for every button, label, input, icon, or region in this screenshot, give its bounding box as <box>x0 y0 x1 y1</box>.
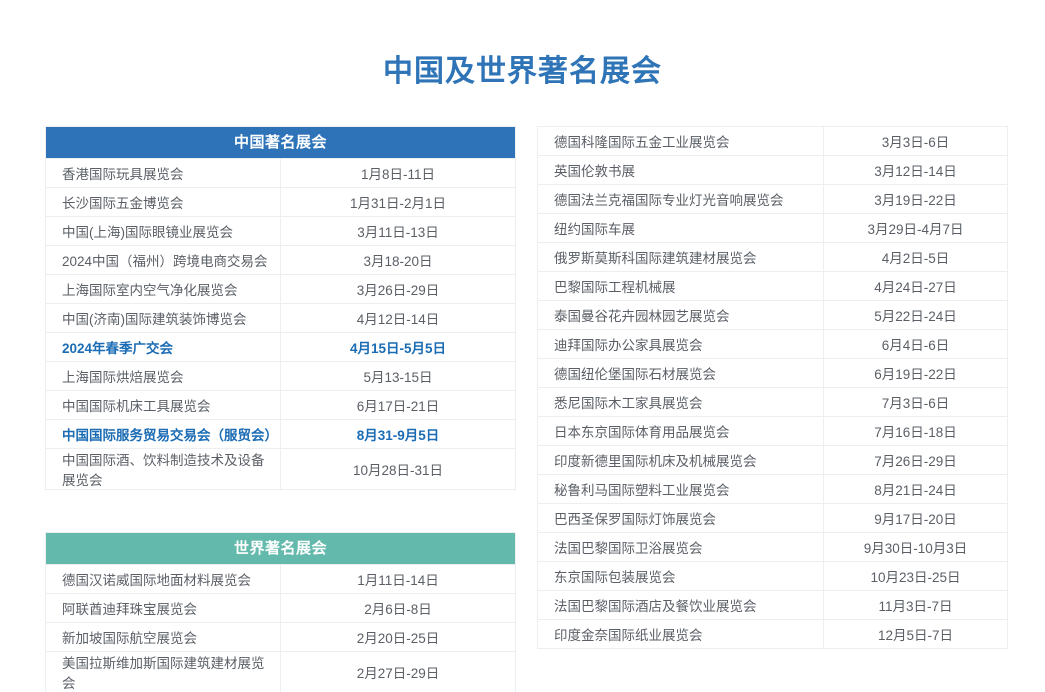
table-row: 纽约国际车展3月29日-4月7日 <box>538 214 1008 243</box>
table-row: 阿联酋迪拜珠宝展览会2月6日-8日 <box>46 594 516 623</box>
right-column: 德国科隆国际五金工业展览会3月3日-6日英国伦敦书展3月12日-14日德国法兰克… <box>537 126 1007 649</box>
exhibition-name-cell: 阿联酋迪拜珠宝展览会 <box>46 594 281 623</box>
exhibition-table-china-famous-exhibitions: 中国著名展会香港国际玩具展览会1月8日-11日长沙国际五金博览会1月31日-2月… <box>45 126 516 490</box>
table-row: 美国拉斯维加斯国际建筑建材展览会2月27日-29日 <box>46 652 516 692</box>
table-row: 英国伦敦书展3月12日-14日 <box>538 156 1008 185</box>
exhibition-date-cell: 10月28日-31日 <box>281 449 516 490</box>
exhibition-table-world-famous-exhibitions-continued: 德国科隆国际五金工业展览会3月3日-6日英国伦敦书展3月12日-14日德国法兰克… <box>537 126 1008 649</box>
table-row: 中国国际机床工具展览会6月17日-21日 <box>46 391 516 420</box>
exhibition-date-cell: 4月2日-5日 <box>824 243 1008 272</box>
table-row: 俄罗斯莫斯科国际建筑建材展览会4月2日-5日 <box>538 243 1008 272</box>
exhibition-date-cell: 3月11日-13日 <box>281 217 516 246</box>
exhibition-name-cell: 美国拉斯维加斯国际建筑建材展览会 <box>46 652 281 692</box>
exhibition-date-cell: 9月17日-20日 <box>824 504 1008 533</box>
table-row: 中国(济南)国际建筑装饰博览会4月12日-14日 <box>46 304 516 333</box>
page-title: 中国及世界著名展会 <box>0 52 1045 92</box>
exhibition-date-cell: 10月23日-25日 <box>824 562 1008 591</box>
table-row: 上海国际烘焙展览会5月13-15日 <box>46 362 516 391</box>
exhibition-date-cell: 5月22日-24日 <box>824 301 1008 330</box>
exhibition-name-cell: 法国巴黎国际酒店及餐饮业展览会 <box>538 591 824 620</box>
table-row: 印度新德里国际机床及机械展览会7月26日-29日 <box>538 446 1008 475</box>
exhibition-schedule-page: 中国及世界著名展会 中国著名展会香港国际玩具展览会1月8日-11日长沙国际五金博… <box>0 0 1045 692</box>
exhibition-date-cell: 11月3日-7日 <box>824 591 1008 620</box>
table-row: 中国国际服务贸易交易会（服贸会）8月31-9月5日 <box>46 420 516 449</box>
table-row: 泰国曼谷花卉园林园艺展览会5月22日-24日 <box>538 301 1008 330</box>
table-row: 新加坡国际航空展览会2月20日-25日 <box>46 623 516 652</box>
table-row: 迪拜国际办公家具展览会6月4日-6日 <box>538 330 1008 359</box>
table-row: 德国汉诺威国际地面材料展览会1月11日-14日 <box>46 565 516 594</box>
exhibition-name-cell: 德国纽伦堡国际石材展览会 <box>538 359 824 388</box>
exhibition-name-cell: 德国法兰克福国际专业灯光音响展览会 <box>538 185 824 214</box>
exhibition-date-cell: 4月12日-14日 <box>281 304 516 333</box>
table-row: 秘鲁利马国际塑料工业展览会8月21日-24日 <box>538 475 1008 504</box>
table-row: 法国巴黎国际酒店及餐饮业展览会11月3日-7日 <box>538 591 1008 620</box>
exhibition-date-cell: 3月18-20日 <box>281 246 516 275</box>
table-row: 日本东京国际体育用品展览会7月16日-18日 <box>538 417 1008 446</box>
exhibition-name-cell: 法国巴黎国际卫浴展览会 <box>538 533 824 562</box>
exhibition-name-cell: 迪拜国际办公家具展览会 <box>538 330 824 359</box>
exhibition-name-cell: 2024中国（福州）跨境电商交易会 <box>46 246 281 275</box>
exhibition-date-cell: 3月29日-4月7日 <box>824 214 1008 243</box>
exhibition-name-cell: 香港国际玩具展览会 <box>46 159 281 188</box>
exhibition-name-cell: 巴西圣保罗国际灯饰展览会 <box>538 504 824 533</box>
table-row: 中国国际酒、饮料制造技术及设备展览会10月28日-31日 <box>46 449 516 490</box>
table-row: 长沙国际五金博览会1月31日-2月1日 <box>46 188 516 217</box>
table-row: 巴黎国际工程机械展4月24日-27日 <box>538 272 1008 301</box>
table-row: 香港国际玩具展览会1月8日-11日 <box>46 159 516 188</box>
exhibition-name-cell: 上海国际烘焙展览会 <box>46 362 281 391</box>
exhibition-name-cell: 中国国际服务贸易交易会（服贸会） <box>46 420 281 449</box>
exhibition-name-cell: 上海国际室内空气净化展览会 <box>46 275 281 304</box>
exhibition-date-cell: 2月20日-25日 <box>281 623 516 652</box>
exhibition-name-cell: 纽约国际车展 <box>538 214 824 243</box>
exhibition-name-cell: 俄罗斯莫斯科国际建筑建材展览会 <box>538 243 824 272</box>
exhibition-date-cell: 3月26日-29日 <box>281 275 516 304</box>
exhibition-date-cell: 2月6日-8日 <box>281 594 516 623</box>
table-row: 法国巴黎国际卫浴展览会9月30日-10月3日 <box>538 533 1008 562</box>
left-column: 中国著名展会香港国际玩具展览会1月8日-11日长沙国际五金博览会1月31日-2月… <box>45 126 516 692</box>
exhibition-name-cell: 德国汉诺威国际地面材料展览会 <box>46 565 281 594</box>
exhibition-name-cell: 泰国曼谷花卉园林园艺展览会 <box>538 301 824 330</box>
exhibition-name-cell: 秘鲁利马国际塑料工业展览会 <box>538 475 824 504</box>
exhibition-name-cell: 中国(济南)国际建筑装饰博览会 <box>46 304 281 333</box>
exhibition-name-cell: 印度金奈国际纸业展览会 <box>538 620 824 649</box>
exhibition-date-cell: 9月30日-10月3日 <box>824 533 1008 562</box>
exhibition-name-cell: 东京国际包装展览会 <box>538 562 824 591</box>
exhibition-date-cell: 5月13-15日 <box>281 362 516 391</box>
exhibition-date-cell: 4月15日-5月5日 <box>281 333 516 362</box>
exhibition-name-cell: 中国国际酒、饮料制造技术及设备展览会 <box>46 449 281 490</box>
exhibition-date-cell: 1月11日-14日 <box>281 565 516 594</box>
table-row: 上海国际室内空气净化展览会3月26日-29日 <box>46 275 516 304</box>
exhibition-date-cell: 6月4日-6日 <box>824 330 1008 359</box>
table-row: 东京国际包装展览会10月23日-25日 <box>538 562 1008 591</box>
exhibition-date-cell: 4月24日-27日 <box>824 272 1008 301</box>
exhibition-name-cell: 新加坡国际航空展览会 <box>46 623 281 652</box>
exhibition-date-cell: 6月19日-22日 <box>824 359 1008 388</box>
table-header-row: 世界著名展会 <box>46 533 516 565</box>
exhibition-name-cell: 悉尼国际木工家具展览会 <box>538 388 824 417</box>
exhibition-table-world-famous-exhibitions: 世界著名展会德国汉诺威国际地面材料展览会1月11日-14日阿联酋迪拜珠宝展览会2… <box>45 532 516 692</box>
exhibition-date-cell: 1月31日-2月1日 <box>281 188 516 217</box>
table-row: 德国纽伦堡国际石材展览会6月19日-22日 <box>538 359 1008 388</box>
table-row: 印度金奈国际纸业展览会12月5日-7日 <box>538 620 1008 649</box>
exhibition-name-cell: 中国国际机床工具展览会 <box>46 391 281 420</box>
exhibition-date-cell: 1月8日-11日 <box>281 159 516 188</box>
exhibition-date-cell: 12月5日-7日 <box>824 620 1008 649</box>
exhibition-date-cell: 3月12日-14日 <box>824 156 1008 185</box>
exhibition-date-cell: 7月3日-6日 <box>824 388 1008 417</box>
exhibition-name-cell: 英国伦敦书展 <box>538 156 824 185</box>
exhibition-name-cell: 2024年春季广交会 <box>46 333 281 362</box>
table-row: 巴西圣保罗国际灯饰展览会9月17日-20日 <box>538 504 1008 533</box>
table-row: 2024中国（福州）跨境电商交易会3月18-20日 <box>46 246 516 275</box>
exhibition-date-cell: 7月16日-18日 <box>824 417 1008 446</box>
exhibition-date-cell: 8月31-9月5日 <box>281 420 516 449</box>
exhibition-name-cell: 长沙国际五金博览会 <box>46 188 281 217</box>
exhibition-date-cell: 8月21日-24日 <box>824 475 1008 504</box>
table-header-title: 中国著名展会 <box>46 127 516 159</box>
exhibition-date-cell: 6月17日-21日 <box>281 391 516 420</box>
table-row: 中国(上海)国际眼镜业展览会3月11日-13日 <box>46 217 516 246</box>
table-header-title: 世界著名展会 <box>46 533 516 565</box>
table-row: 悉尼国际木工家具展览会7月3日-6日 <box>538 388 1008 417</box>
table-spacer <box>45 490 516 532</box>
exhibition-name-cell: 巴黎国际工程机械展 <box>538 272 824 301</box>
exhibition-date-cell: 7月26日-29日 <box>824 446 1008 475</box>
table-row: 德国法兰克福国际专业灯光音响展览会3月19日-22日 <box>538 185 1008 214</box>
table-row: 2024年春季广交会4月15日-5月5日 <box>46 333 516 362</box>
table-header-row: 中国著名展会 <box>46 127 516 159</box>
exhibition-name-cell: 中国(上海)国际眼镜业展览会 <box>46 217 281 246</box>
exhibition-date-cell: 3月19日-22日 <box>824 185 1008 214</box>
exhibition-name-cell: 日本东京国际体育用品展览会 <box>538 417 824 446</box>
exhibition-name-cell: 印度新德里国际机床及机械展览会 <box>538 446 824 475</box>
exhibition-name-cell: 德国科隆国际五金工业展览会 <box>538 127 824 156</box>
exhibition-date-cell: 3月3日-6日 <box>824 127 1008 156</box>
table-row: 德国科隆国际五金工业展览会3月3日-6日 <box>538 127 1008 156</box>
exhibition-date-cell: 2月27日-29日 <box>281 652 516 692</box>
